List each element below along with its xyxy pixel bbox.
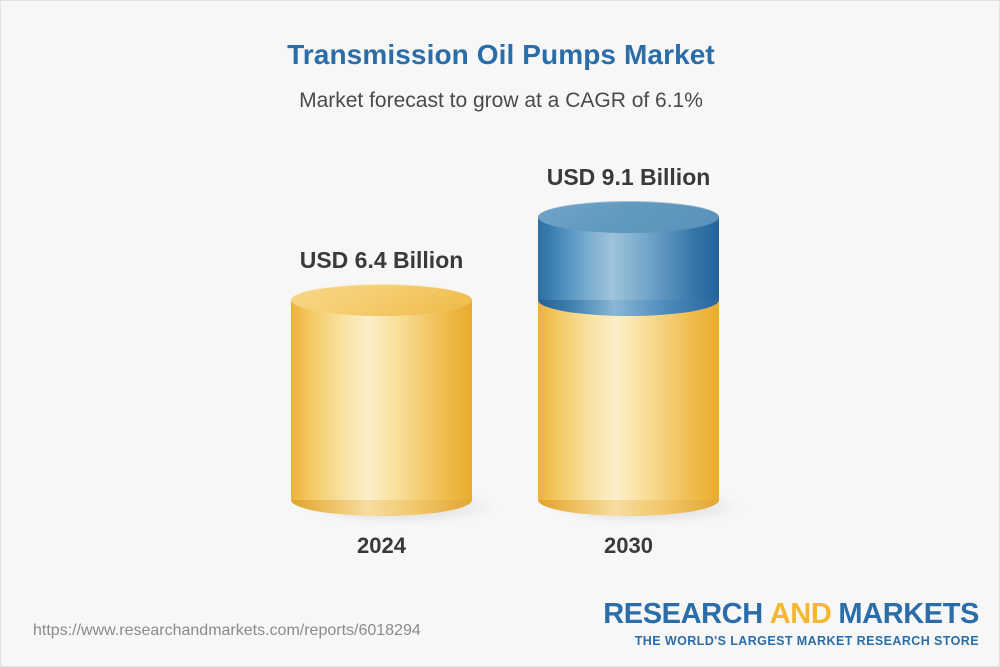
brand-wordmark: RESEARCHANDMARKETS [603, 600, 979, 629]
brand-word-and: AND [770, 598, 832, 630]
infographic-canvas: Transmission Oil Pumps Market Market for… [0, 0, 1000, 667]
bar-value-label-2030: USD 9.1 Billion [538, 164, 719, 191]
brand-word-research: RESEARCH [603, 598, 763, 630]
bar-group-2030: USD 9.1 Billion 2030 [538, 1, 719, 601]
brand-logo[interactable]: RESEARCHANDMARKETS THE WORLD'S LARGEST M… [603, 600, 979, 648]
segment-body [538, 300, 719, 500]
bar-group-2024: USD 6.4 Billion 2024 [291, 1, 472, 601]
bar-segment-blue-2030 [538, 201, 719, 316]
bar-category-label-2024: 2024 [291, 533, 472, 559]
brand-word-markets: MARKETS [838, 598, 979, 630]
segment-top-ellipse [291, 284, 472, 316]
bar-segment-yellow-2030 [538, 284, 719, 516]
segment-top-ellipse [538, 201, 719, 233]
cylinder-2024 [291, 284, 472, 516]
bar-category-label-2030: 2030 [538, 533, 719, 559]
chart-plot-area: USD 6.4 Billion 2024 USD 9.1 Billion [1, 1, 1000, 601]
bar-segment-yellow-2024 [291, 284, 472, 516]
bar-value-label-2024: USD 6.4 Billion [291, 247, 472, 274]
cylinder-2030 [538, 201, 719, 516]
brand-tagline: THE WORLD'S LARGEST MARKET RESEARCH STOR… [603, 634, 979, 648]
source-url[interactable]: https://www.researchandmarkets.com/repor… [33, 622, 421, 640]
segment-body [291, 300, 472, 500]
